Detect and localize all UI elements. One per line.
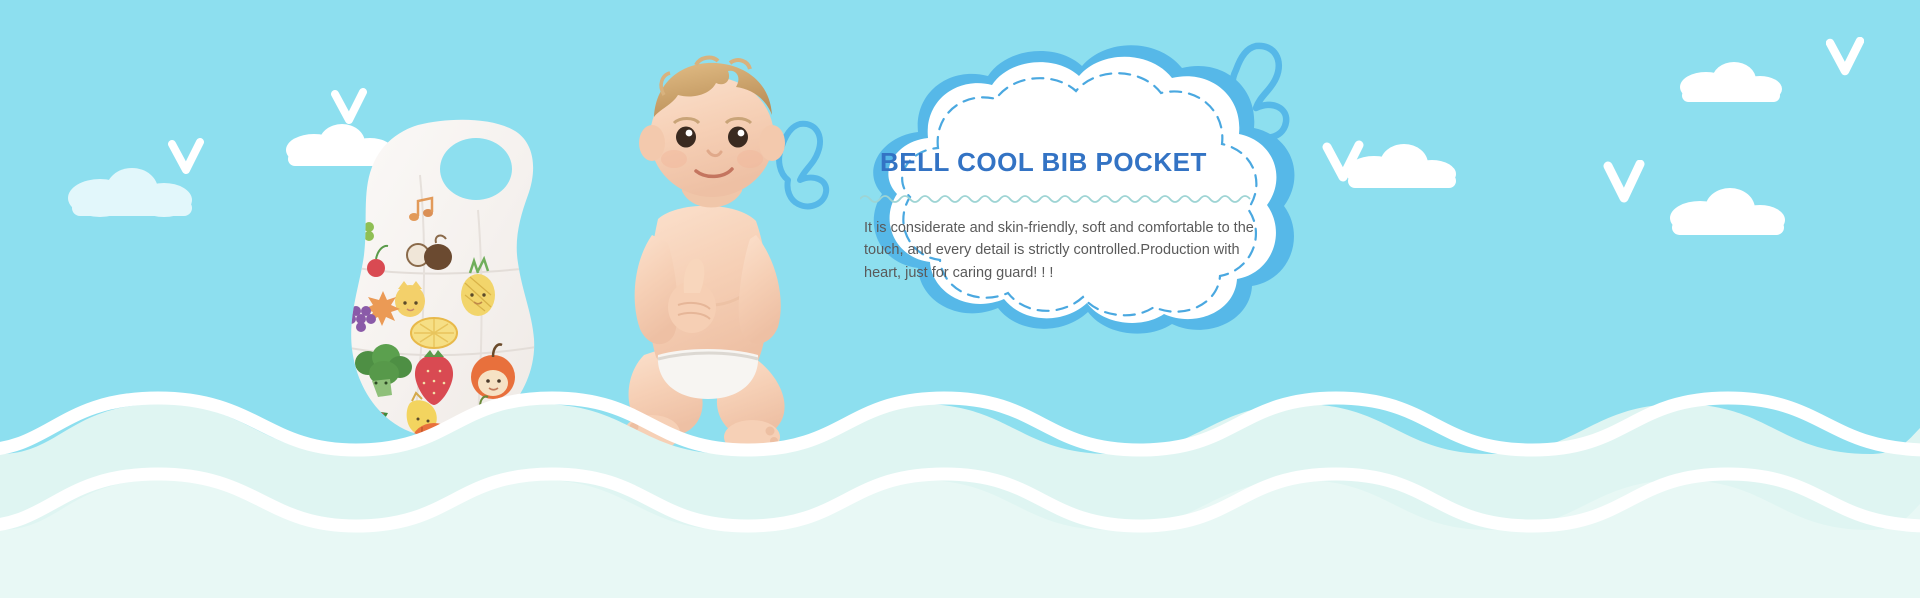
check-mark-icon (1826, 37, 1864, 79)
check-mark-icon (168, 138, 204, 178)
cloud-icon (60, 160, 210, 220)
promo-banner: BELL COOL BIB POCKET It is considerate a… (0, 0, 1920, 598)
callout-body-text: It is considerate and skin-friendly, sof… (864, 217, 1256, 284)
callout-text-block: BELL COOL BIB POCKET It is considerate a… (860, 140, 1280, 310)
check-mark-icon (1322, 140, 1364, 186)
wave-decoration (0, 358, 1920, 598)
model-photo-baby (600, 55, 840, 455)
wavy-divider (860, 193, 1252, 203)
product-image-bib (300, 115, 570, 445)
cloud-icon (1662, 182, 1792, 238)
cloud-icon (1338, 140, 1468, 192)
check-mark-icon (1603, 160, 1645, 208)
cloud-icon (1672, 57, 1792, 107)
callout-title: BELL COOL BIB POCKET (880, 148, 1280, 177)
